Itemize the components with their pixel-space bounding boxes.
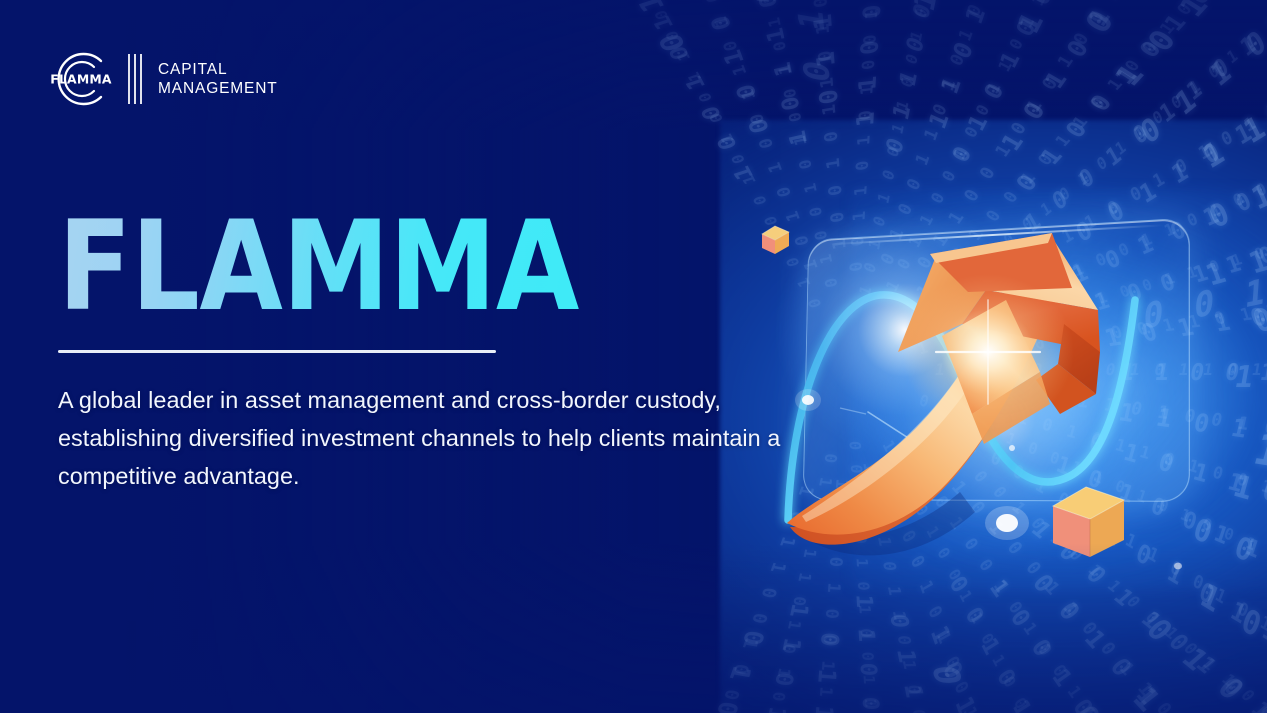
title-divider [58, 350, 496, 353]
logo-wordmark-line1: CAPITAL [158, 60, 278, 79]
logo-divider-bars [128, 54, 142, 104]
page-title: FLAMMA [58, 205, 579, 329]
hero-subtitle: A global leader in asset management and … [58, 382, 784, 496]
circular-c-ring-icon: FLAMMA [44, 50, 116, 108]
logo-wordmark-line2: MANAGEMENT [158, 79, 278, 98]
hero-banner: 0 1 0 1 0 0 1 0 1 0 0 1 1 0 0 1 0 1 01 0… [0, 0, 1267, 713]
logo-mark-text: FLAMMA [50, 72, 112, 87]
logo-wordmark: CAPITAL MANAGEMENT [158, 60, 278, 98]
brand-logo[interactable]: FLAMMA CAPITAL MANAGEMENT [44, 50, 278, 108]
bottom-fade-overlay [0, 543, 1267, 713]
